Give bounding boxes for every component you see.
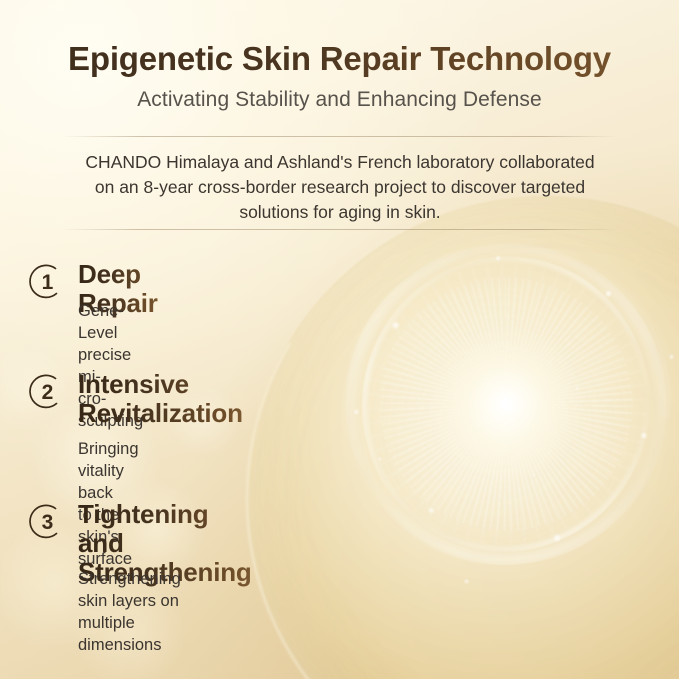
number-badge-3-icon: 3 <box>28 502 67 541</box>
divider-above-intro <box>62 136 618 137</box>
number-badge-1-icon: 1 <box>28 262 67 301</box>
feature-heading-2: Intensive Revitalization <box>78 370 243 428</box>
feature-description-3: Strengthening skin layers on multiple di… <box>78 568 181 656</box>
poster-content: Epigenetic Skin Repair Technology Activa… <box>0 0 679 679</box>
page-title: Epigenetic Skin Repair Technology <box>0 40 679 78</box>
number-badge-2-icon: 2 <box>28 372 67 411</box>
divider-below-intro <box>62 229 618 230</box>
number-badge-2-label: 2 <box>42 381 54 404</box>
skincare-infographic-poster: Epigenetic Skin Repair Technology Activa… <box>0 0 679 679</box>
intro-paragraph: CHANDO Himalaya and Ashland's French lab… <box>78 150 602 225</box>
page-subtitle: Activating Stability and Enhancing Defen… <box>0 88 679 112</box>
number-badge-1-label: 1 <box>42 271 54 294</box>
number-badge-3-label: 3 <box>42 511 54 534</box>
